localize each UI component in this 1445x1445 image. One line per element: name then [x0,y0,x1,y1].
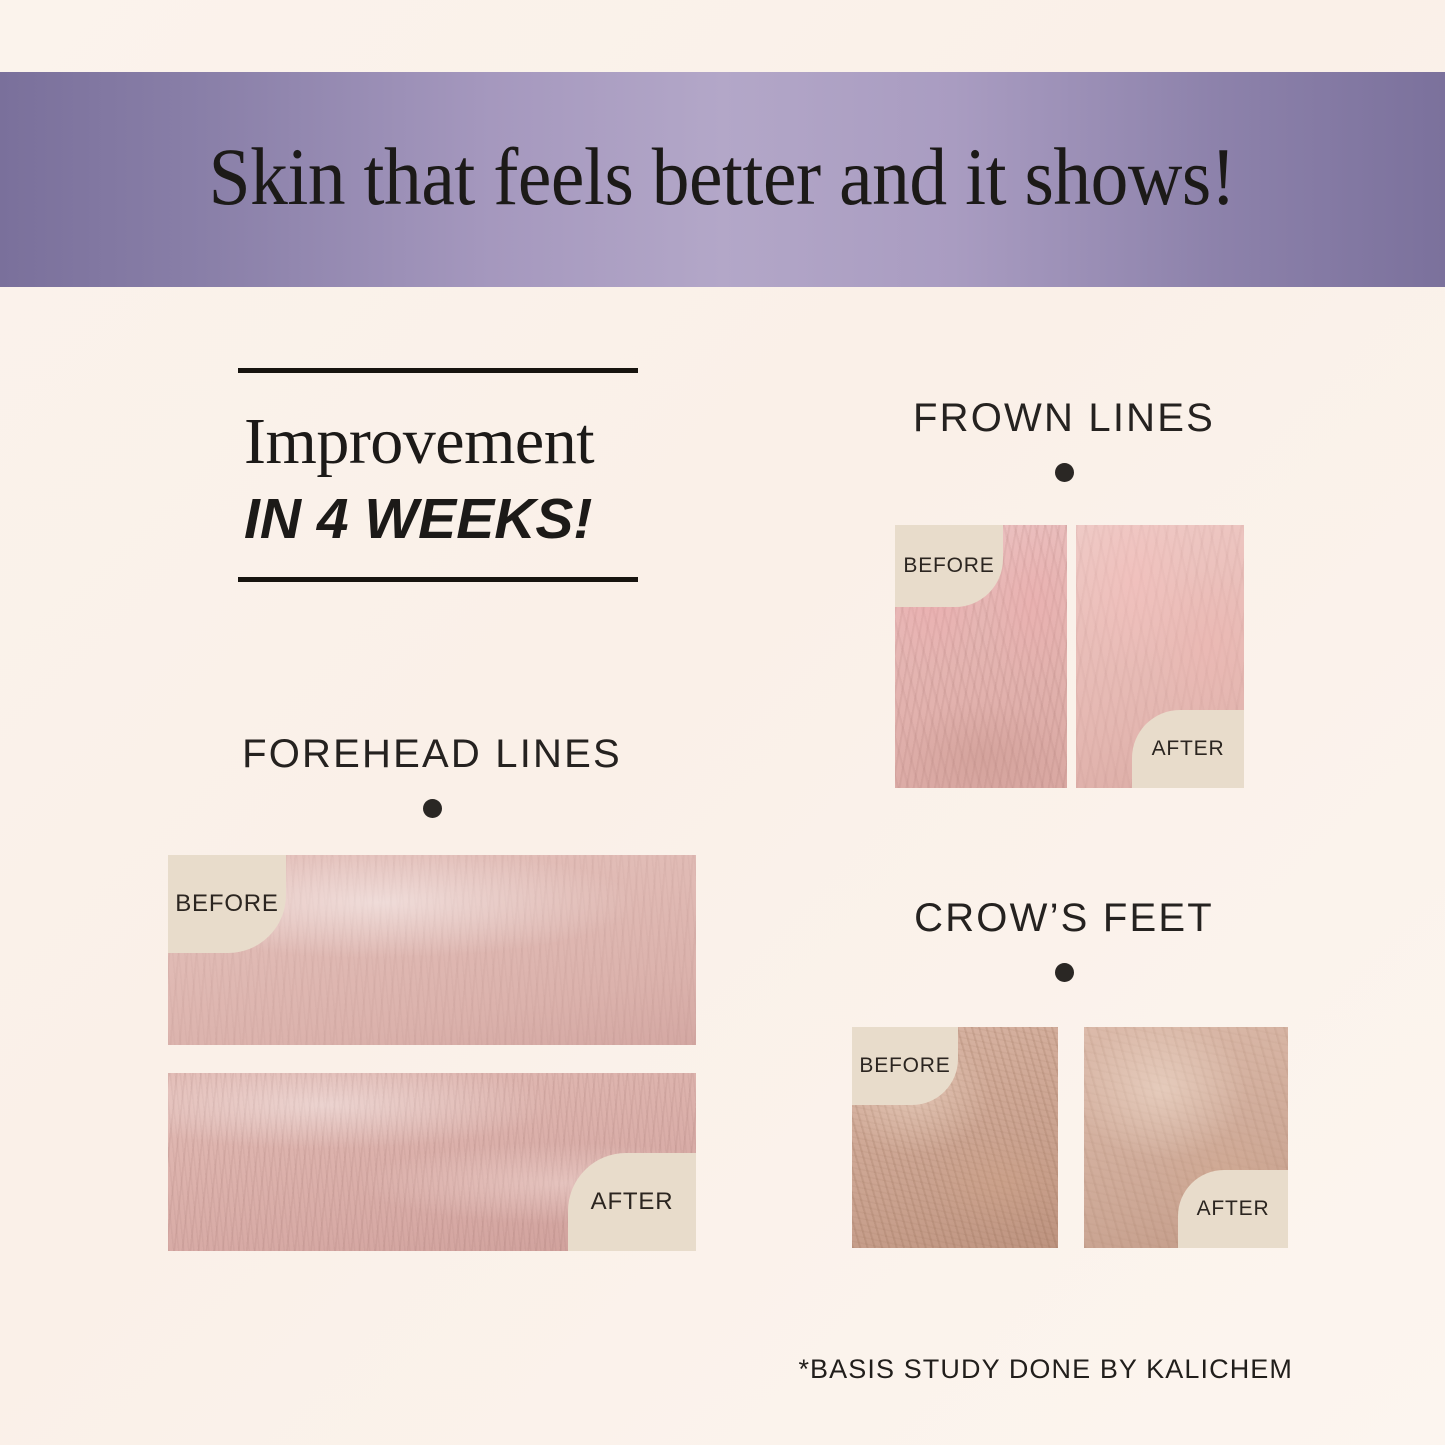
badge-before: BEFORE [852,1027,958,1105]
photo-frown-before: BEFORE [895,525,1067,788]
badge-before: BEFORE [895,525,1003,607]
section-title-crows-feet: CROW’S FEET [880,896,1248,941]
photo-crows-feet-after: AFTER [1084,1027,1288,1248]
infographic-page: Skin that feels better and it shows! Imp… [0,0,1445,1445]
header-banner: Skin that feels better and it shows! [0,72,1445,287]
bullet-dot-icon [1055,463,1074,482]
badge-before: BEFORE [168,855,286,953]
section-header-forehead-lines: FOREHEAD LINES [168,732,696,818]
badge-after: AFTER [1132,710,1244,788]
badge-after: AFTER [1178,1170,1288,1248]
bullet-dot-icon [1055,963,1074,982]
section-header-crows-feet: CROW’S FEET [880,896,1248,982]
section-title-forehead-lines: FOREHEAD LINES [168,732,696,777]
photo-forehead-after: AFTER [168,1073,696,1251]
rule-bottom [238,577,638,582]
improvement-text: Improvement IN 4 WEEKS! [238,373,638,577]
improvement-block: Improvement IN 4 WEEKS! [238,368,638,582]
section-header-frown-lines: FROWN LINES [880,396,1248,482]
section-title-frown-lines: FROWN LINES [880,396,1248,441]
study-disclaimer: *BASIS STUDY DONE BY KALICHEM [798,1354,1293,1385]
badge-after: AFTER [568,1153,696,1251]
photo-crows-feet-before: BEFORE [852,1027,1058,1248]
photo-frown-after: AFTER [1076,525,1244,788]
improvement-subheading: IN 4 WEEKS! [244,488,638,551]
bullet-dot-icon [423,799,442,818]
improvement-heading: Improvement [244,407,638,476]
photo-forehead-before: BEFORE [168,855,696,1045]
page-title: Skin that feels better and it shows! [209,136,1236,224]
